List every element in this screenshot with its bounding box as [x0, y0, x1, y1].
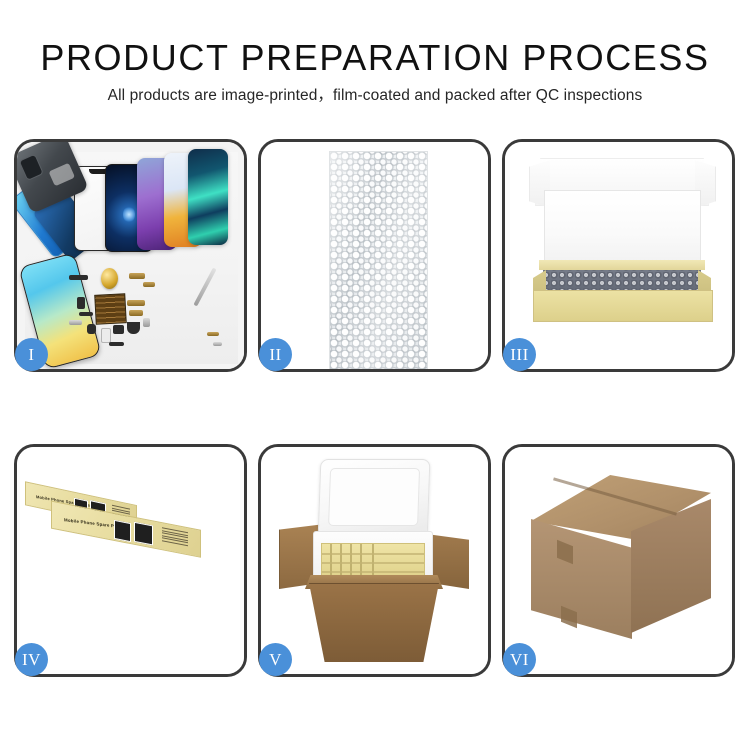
open-flat-box-image [505, 142, 732, 369]
carton-with-styrofoam-image [261, 447, 488, 674]
box-front-wall [533, 290, 713, 322]
box-spec-lines [162, 527, 188, 548]
page-title: PRODUCT PREPARATION PROCESS [0, 38, 750, 78]
sealed-carton-image [505, 447, 732, 674]
step-card-1[interactable]: I [14, 139, 247, 372]
spare-part-icon [143, 318, 150, 327]
white-foam-liner [544, 190, 701, 270]
step-card-4[interactable]: Mobile Phone Spare Parts [14, 444, 247, 677]
step-badge-3: III [503, 338, 536, 371]
spare-part-icon [213, 342, 222, 346]
step-badge-4: IV [15, 643, 48, 676]
step-badge-6: VI [503, 643, 536, 676]
spare-part-icon [113, 325, 124, 334]
bubble-texture [330, 152, 427, 369]
step-image-4: Mobile Phone Spare Parts [17, 447, 244, 674]
step-image-1 [17, 142, 244, 369]
header: PRODUCT PREPARATION PROCESS All products… [0, 0, 750, 106]
spare-part-icon [127, 300, 145, 306]
spare-part-icon [109, 342, 124, 346]
spare-part-icon [143, 282, 155, 287]
process-steps-grid: I II [14, 139, 736, 677]
step-image-3 [505, 142, 732, 369]
bubble-wrapped-part-image [261, 142, 488, 369]
spare-part-icon [69, 320, 82, 325]
step-card-5[interactable]: V [258, 444, 491, 677]
step-badge-2: II [259, 338, 292, 371]
spare-part-icon [207, 332, 219, 336]
spare-part-icon [127, 322, 140, 334]
step-image-5 [261, 447, 488, 674]
carton-left-face [531, 519, 632, 639]
styrofoam-lid [318, 459, 431, 539]
spare-part-icon [79, 312, 93, 316]
step-badge-5: V [259, 643, 292, 676]
bubble-bag [329, 151, 428, 369]
connector-grid-icon [94, 293, 127, 325]
carton-body [309, 583, 439, 662]
box-top-rim [539, 260, 705, 270]
spare-part-icon [101, 328, 111, 343]
teal-phone-icon [188, 149, 228, 245]
step-image-2 [261, 142, 488, 369]
step-card-2[interactable]: II [258, 139, 491, 372]
phone-parts-collage-image [17, 142, 244, 369]
stacked-retail-boxes-image: Mobile Phone Spare Parts [17, 447, 244, 674]
step-badge-1: I [15, 338, 48, 371]
spare-part-icon [77, 297, 85, 309]
product-preparation-infographic: PRODUCT PREPARATION PROCESS All products… [0, 0, 750, 750]
speaker-module-icon [101, 268, 118, 289]
step-card-3[interactable]: III [502, 139, 735, 372]
page-subtitle: All products are image-printed，film-coat… [0, 86, 750, 106]
step-card-6[interactable]: VI [502, 444, 735, 677]
step-image-6 [505, 447, 732, 674]
spare-part-icon [129, 273, 145, 279]
box-stack: Mobile Phone Spare Parts [23, 467, 241, 663]
spare-part-icon [87, 324, 96, 334]
spare-part-icon [129, 310, 143, 316]
spare-part-icon [69, 275, 88, 280]
